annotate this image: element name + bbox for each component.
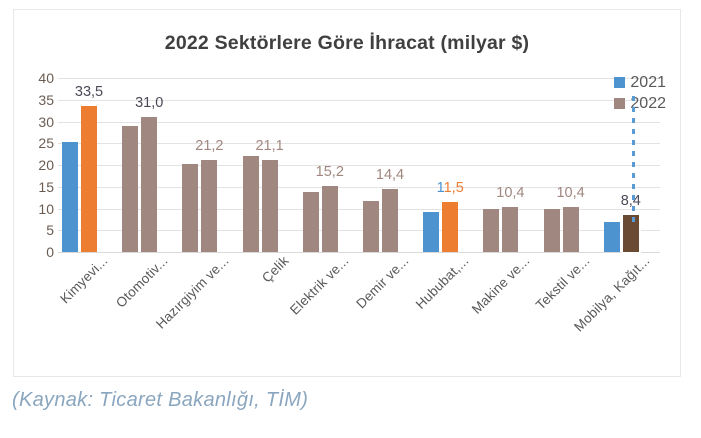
x-axis-label: Tekstil ve... — [533, 253, 593, 313]
x-axis-label: Çelik — [259, 253, 292, 286]
bar-2022[interactable] — [563, 207, 579, 252]
y-axis-tick: 20 — [14, 158, 54, 172]
bar-group[interactable] — [239, 78, 299, 252]
bar-2022[interactable] — [442, 202, 458, 252]
data-label: 31,0 — [135, 96, 163, 111]
data-label: 33,5 — [75, 85, 103, 100]
x-axis-label: Demir ve... — [353, 253, 411, 311]
data-label: 15,2 — [316, 165, 344, 180]
legend-label: 2021 — [630, 75, 666, 91]
bar-group[interactable] — [178, 78, 238, 252]
x-axis-label: Otomotiv... — [113, 253, 171, 311]
data-label: 11,5 — [437, 181, 464, 196]
data-label-part: 1,5 — [444, 180, 464, 196]
bar-group[interactable] — [58, 78, 118, 252]
y-axis-tick: 25 — [14, 136, 54, 150]
legend-item[interactable]: 2021 — [614, 72, 666, 93]
y-axis-tick: 35 — [14, 93, 54, 107]
y-axis-tick: 30 — [14, 115, 54, 129]
x-axis-label: Hububat,... — [413, 253, 472, 312]
y-axis-tick: 15 — [14, 180, 54, 194]
bar-2021[interactable] — [363, 201, 379, 252]
x-axis-label: Makine ve... — [468, 253, 532, 317]
bar-group[interactable] — [359, 78, 419, 252]
bar-2021[interactable] — [604, 222, 620, 252]
bar-2022[interactable] — [382, 189, 398, 252]
bar-2021[interactable] — [423, 212, 439, 252]
legend-square-icon — [614, 77, 625, 88]
bar-2022[interactable] — [141, 117, 157, 252]
bar-2022[interactable] — [623, 215, 639, 252]
source-caption: (Kaynak: Ticaret Bakanlığı, TİM) — [12, 389, 308, 412]
bar-2021[interactable] — [243, 156, 259, 252]
bar-2021[interactable] — [483, 209, 499, 252]
legend-label: 2022 — [630, 96, 666, 112]
bar-group[interactable] — [479, 78, 539, 252]
chart-page: 2022 Sektörlere Göre İhracat (milyar $) … — [0, 0, 701, 438]
plot-area[interactable]: 33,531,021,221,115,214,411,510,410,48,4 — [58, 78, 660, 252]
data-label: 10,4 — [556, 186, 584, 201]
data-label: 14,4 — [376, 168, 404, 183]
chart-legend[interactable]: 20212022 — [614, 72, 666, 114]
bar-group[interactable] — [540, 78, 600, 252]
y-axis-tick: 5 — [14, 223, 54, 237]
data-label: 21,2 — [195, 139, 223, 154]
bar-2022[interactable] — [322, 186, 338, 252]
bar-2021[interactable] — [544, 209, 560, 252]
bar-2021[interactable] — [122, 126, 138, 252]
bar-series-container[interactable]: 33,531,021,221,115,214,411,510,410,48,4 — [58, 78, 660, 252]
text-caret-artifact — [632, 96, 635, 227]
chart-title: 2022 Sektörlere Göre İhracat (milyar $) — [14, 32, 680, 55]
bar-group[interactable] — [419, 78, 479, 252]
data-label: 21,1 — [255, 139, 283, 154]
bar-2022[interactable] — [262, 160, 278, 252]
x-axis-labels: Kimyevi...Otomotiv...Hazırgiyim ve...Çel… — [58, 253, 660, 373]
bar-2022[interactable] — [502, 207, 518, 252]
chart-object[interactable]: 2022 Sektörlere Göre İhracat (milyar $) … — [13, 9, 681, 377]
bar-2021[interactable] — [62, 142, 78, 252]
x-axis-label: Kimyevi... — [57, 253, 110, 306]
y-axis: 4035302520151050 — [14, 78, 54, 252]
y-axis-tick: 40 — [14, 71, 54, 85]
legend-item[interactable]: 2022 — [614, 93, 666, 114]
x-axis-label: Elektrik ve... — [287, 253, 352, 318]
bar-2021[interactable] — [182, 164, 198, 252]
y-axis-tick: 10 — [14, 202, 54, 216]
data-label: 10,4 — [496, 186, 524, 201]
bar-2022[interactable] — [81, 106, 97, 252]
legend-square-icon — [614, 98, 625, 109]
bar-2021[interactable] — [303, 192, 319, 252]
y-axis-tick: 0 — [14, 245, 54, 259]
data-label: 8,4 — [621, 194, 641, 209]
bar-2022[interactable] — [201, 160, 217, 252]
data-label-part: 1 — [437, 180, 444, 196]
